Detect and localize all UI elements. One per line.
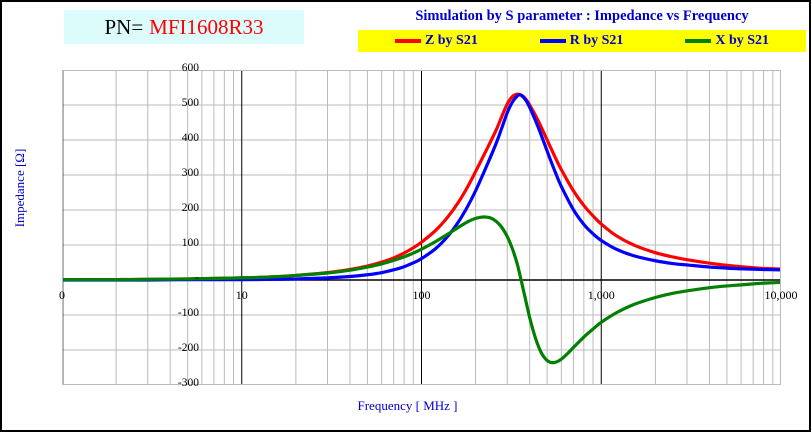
part-number-label: PN= xyxy=(104,15,143,40)
x-axis-title: Frequency [ MHz ] xyxy=(2,398,811,414)
y-tick-label: 400 xyxy=(182,132,199,144)
x-tick-label: 100 xyxy=(413,288,431,303)
y-tick-label: 300 xyxy=(182,167,199,179)
minor-gridlines xyxy=(116,70,773,385)
y-axis-ticks: 600500400300200100--100-200-300 xyxy=(152,70,199,385)
y-tick-label: -100 xyxy=(178,307,199,319)
y-tick-label: -200 xyxy=(178,342,199,354)
legend-item: X by S21 xyxy=(685,33,769,49)
legend-swatch-z xyxy=(395,39,421,43)
x-axis-ticks: 0101001,00010,000 xyxy=(2,288,811,308)
legend-swatch-r xyxy=(540,39,566,43)
y-tick-label: 500 xyxy=(182,97,199,109)
chart-legend: Z by S21 R by S21 X by S21 xyxy=(358,30,806,52)
y-tick-label: -300 xyxy=(178,377,199,389)
part-number-box: PN= MFI1608R33 xyxy=(64,10,304,44)
y-tick-label: 100 xyxy=(182,237,199,249)
legend-label-z: Z by S21 xyxy=(425,33,478,49)
x-tick-label: 1,000 xyxy=(588,288,615,303)
legend-item: R by S21 xyxy=(540,33,624,49)
legend-swatch-x xyxy=(685,39,711,43)
legend-label-x: X by S21 xyxy=(715,33,769,49)
legend-item: Z by S21 xyxy=(395,33,478,49)
chart-canvas: PN= MFI1608R33 Simulation by S parameter… xyxy=(0,0,811,432)
legend-label-r: R by S21 xyxy=(570,33,624,49)
y-tick-label: 200 xyxy=(182,202,199,214)
chart-title: Simulation by S parameter : Impedance vs… xyxy=(362,8,802,25)
part-number-value: MFI1608R33 xyxy=(149,15,263,40)
y-tick-label: - xyxy=(195,272,199,284)
x-tick-label: 10 xyxy=(236,288,248,303)
x-tick-label: 10,000 xyxy=(765,288,798,303)
x-tick-label: 0 xyxy=(59,288,65,303)
y-tick-label: 600 xyxy=(182,62,199,74)
y-axis-title: Impedance [Ω] xyxy=(12,128,28,248)
